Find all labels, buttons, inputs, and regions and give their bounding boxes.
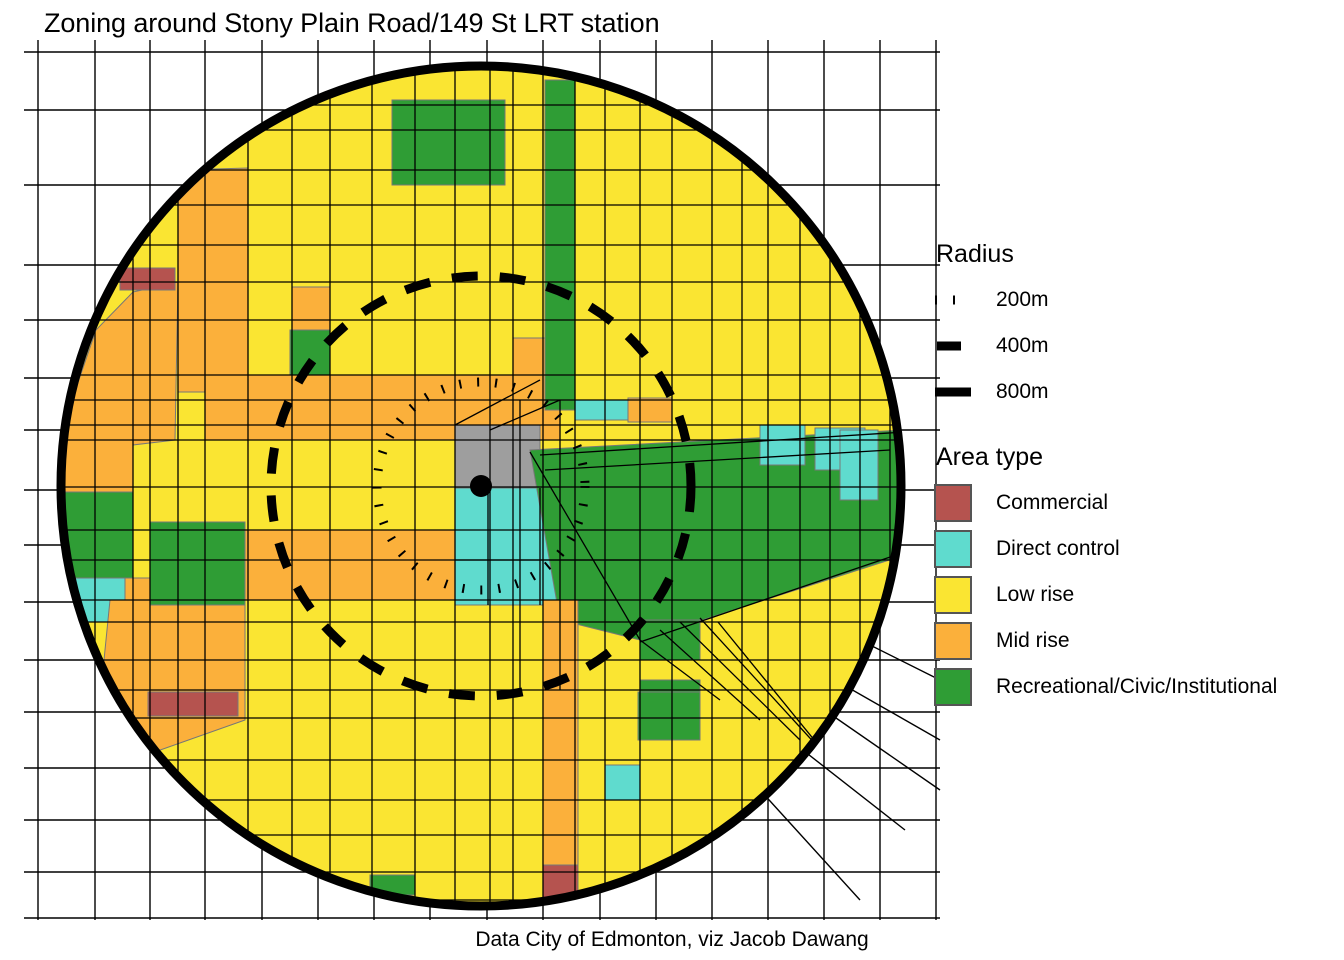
- legend-radius-item-400m[interactable]: 400m: [930, 323, 1340, 369]
- zone-polygon-rec[interactable]: [640, 620, 700, 660]
- zone-polygon-mid[interactable]: [628, 398, 672, 422]
- legend-areatype-item[interactable]: Mid rise: [930, 618, 1340, 664]
- legend-radius-item-200m[interactable]: 200m: [930, 277, 1340, 323]
- legend-areatype-item[interactable]: Low rise: [930, 572, 1340, 618]
- diagonal-street-line: [760, 790, 860, 900]
- zone-polygon-mid[interactable]: [292, 287, 330, 330]
- zone-polygon-rec[interactable]: [150, 522, 245, 605]
- color-swatch: [930, 572, 976, 618]
- legend-areatype-item[interactable]: Recreational/Civic/Institutional: [930, 664, 1340, 710]
- color-swatch: [930, 618, 976, 664]
- zoning-map-figure: Zoning around Stony Plain Road/149 St LR…: [0, 0, 1344, 960]
- legend-areatype-label: Mid rise: [996, 629, 1070, 653]
- legend-areatype-item[interactable]: Commercial: [930, 480, 1340, 526]
- swatch-fill: [934, 530, 972, 568]
- figure-caption: Data City of Edmonton, viz Jacob Dawang: [0, 928, 1344, 952]
- legend-areatype-item[interactable]: Direct control: [930, 526, 1340, 572]
- legend: Radius 200m400m800m Area type Commercial…: [930, 240, 1340, 710]
- legend-areatype-label: Low rise: [996, 583, 1074, 607]
- zone-polygon-mid[interactable]: [178, 168, 248, 392]
- swatch-fill: [934, 576, 972, 614]
- legend-areatype-title: Area type: [936, 443, 1340, 472]
- legend-radius-label: 800m: [996, 380, 1049, 404]
- zone-polygon-com[interactable]: [148, 692, 238, 716]
- color-swatch: [930, 664, 976, 710]
- legend-areatype-label: Direct control: [996, 537, 1120, 561]
- legend-radius-item-800m[interactable]: 800m: [930, 369, 1340, 415]
- zone-polygon-dc[interactable]: [760, 425, 805, 465]
- zone-polygon-dc[interactable]: [575, 400, 628, 420]
- lrt-station-point[interactable]: [470, 475, 492, 497]
- legend-areatype-label: Recreational/Civic/Institutional: [996, 675, 1277, 699]
- color-swatch: [930, 526, 976, 572]
- dashed-line-icon: [930, 323, 976, 369]
- solid-line-icon: [930, 369, 976, 415]
- legend-radius-title: Radius: [936, 240, 1340, 269]
- legend-radius-label: 400m: [996, 334, 1049, 358]
- legend-radius-rows: 200m400m800m: [930, 277, 1340, 415]
- zone-polygon-rec[interactable]: [638, 692, 700, 740]
- legend-areatype-rows: CommercialDirect controlLow riseMid rise…: [930, 480, 1340, 710]
- zone-polygon-gray[interactable]: [455, 425, 540, 488]
- zone-polygon-rec[interactable]: [392, 100, 505, 185]
- dotted-line-icon: [930, 277, 976, 323]
- zone-polygon-dc[interactable]: [605, 765, 640, 800]
- swatch-fill: [934, 622, 972, 660]
- zone-polygon-com[interactable]: [120, 268, 175, 290]
- swatch-fill: [934, 484, 972, 522]
- zone-polygon-mid[interactable]: [513, 338, 545, 375]
- color-swatch: [930, 480, 976, 526]
- legend-areatype-label: Commercial: [996, 491, 1108, 515]
- legend-radius-label: 200m: [996, 288, 1049, 312]
- swatch-fill: [934, 668, 972, 706]
